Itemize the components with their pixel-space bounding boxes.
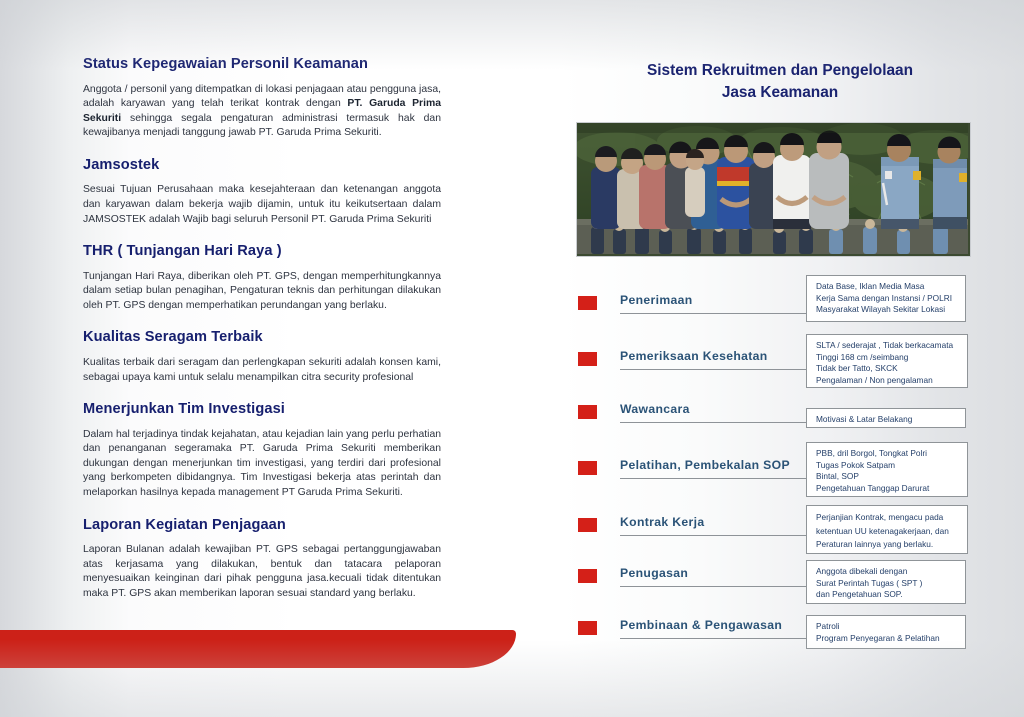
step-bullet-chip: [578, 569, 597, 583]
detail-line: ketentuan UU ketenagakerjaan, dan: [816, 525, 960, 539]
step-underline: [620, 313, 806, 314]
detail-line: PBB, dril Borgol, Tongkat Polri: [816, 448, 960, 460]
section-laporan-kegiatan: Laporan Kegiatan Penjagaan Laporan Bulan…: [83, 517, 441, 602]
section-heading: Laporan Kegiatan Penjagaan: [83, 517, 441, 535]
title-line-2: Jasa Keamanan: [560, 82, 1000, 104]
title-line-1: Sistem Rekruitmen dan Pengelolaan: [560, 60, 1000, 82]
step-underline: [620, 422, 806, 423]
detail-line: Anggota dibekali dengan: [816, 566, 958, 578]
detail-line: Patroli: [816, 621, 958, 633]
step-bullet-chip: [578, 296, 597, 310]
recruitment-briefing-photo: [576, 122, 971, 257]
step-label: Penugasan: [620, 566, 688, 580]
detail-line: SLTA / sederajat , Tidak berkacamata: [816, 340, 960, 352]
section-tim-investigasi: Menerjunkan Tim Investigasi Dalam hal te…: [83, 401, 441, 500]
section-body: Tunjangan Hari Raya, diberikan oleh PT. …: [83, 270, 441, 314]
step-detail-box: Data Base, Iklan Media Masa Kerja Sama d…: [806, 275, 966, 322]
section-jamsostek: Jamsostek Sesuai Tujuan Perusahaan maka …: [83, 157, 441, 227]
detail-line: Surat Perintah Tugas ( SPT ): [816, 578, 958, 590]
section-body: Sesuai Tujuan Perusahaan maka kesejahter…: [83, 183, 441, 227]
step-label: Pelatihan, Pembekalan SOP: [620, 458, 790, 472]
detail-line: Program Penyegaran & Pelatihan: [816, 633, 958, 645]
step-underline: [620, 586, 806, 587]
detail-line: Tinggi 168 cm /seimbang: [816, 352, 960, 364]
right-column-title: Sistem Rekruitmen dan Pengelolaan Jasa K…: [560, 60, 1000, 104]
step-bullet-chip: [578, 518, 597, 532]
detail-line: Tugas Pokok Satpam: [816, 460, 960, 472]
section-kualitas-seragam: Kualitas Seragam Terbaik Kualitas terbai…: [83, 329, 441, 385]
step-detail-box: Patroli Program Penyegaran & Pelatihan: [806, 615, 966, 649]
section-heading: THR ( Tunjangan Hari Raya ): [83, 243, 441, 261]
detail-line: Pengetahuan Tanggap Darurat: [816, 483, 960, 495]
step-bullet-chip: [578, 621, 597, 635]
step-label: Pemeriksaan Kesehatan: [620, 349, 768, 363]
section-heading: Kualitas Seragam Terbaik: [83, 329, 441, 347]
section-heading: Status Kepegawaian Personil Keamanan: [83, 56, 441, 74]
step-label: Penerimaan: [620, 293, 693, 307]
step-detail-box: SLTA / sederajat , Tidak berkacamata Tin…: [806, 334, 968, 388]
section-body: Anggota / personil yang ditempatkan di l…: [83, 83, 441, 141]
step-underline: [620, 638, 806, 639]
right-diagram-column: Sistem Rekruitmen dan Pengelolaan Jasa K…: [560, 0, 1024, 717]
step-underline: [620, 478, 806, 479]
step-bullet-chip: [578, 352, 597, 366]
step-underline: [620, 369, 806, 370]
brochure-page: Status Kepegawaian Personil Keamanan Ang…: [0, 0, 1024, 717]
detail-line: Tidak ber Tatto, SKCK: [816, 363, 960, 375]
body-post: sehingga segala pengaturan administrasi …: [83, 113, 441, 139]
detail-line: Kerja Sama dengan Instansi / POLRI: [816, 293, 958, 305]
left-text-column: Status Kepegawaian Personil Keamanan Ang…: [83, 56, 441, 617]
detail-line: Data Base, Iklan Media Masa: [816, 281, 958, 293]
step-label: Pembinaan & Pengawasan: [620, 618, 782, 632]
step-detail-box: Anggota dibekali dengan Surat Perintah T…: [806, 560, 966, 604]
section-body: Laporan Bulanan adalah kewajiban PT. GPS…: [83, 543, 441, 601]
section-heading: Menerjunkan Tim Investigasi: [83, 401, 441, 419]
step-label: Kontrak Kerja: [620, 515, 704, 529]
detail-line: Masyarakat Wilayah Sekitar Lokasi: [816, 304, 958, 316]
detail-line: Motivasi & Latar Belakang: [816, 414, 958, 426]
section-status-kepegawaian: Status Kepegawaian Personil Keamanan Ang…: [83, 56, 441, 141]
detail-line: dan Pengetahuan SOP.: [816, 589, 958, 601]
step-bullet-chip: [578, 405, 597, 419]
detail-line: Perjanjian Kontrak, mengacu pada: [816, 511, 960, 525]
step-detail-box: PBB, dril Borgol, Tongkat Polri Tugas Po…: [806, 442, 968, 497]
detail-line: Pengalaman / Non pengalaman: [816, 375, 960, 387]
section-heading: Jamsostek: [83, 157, 441, 175]
section-body: Kualitas terbaik dari seragam dan perlen…: [83, 356, 441, 385]
step-bullet-chip: [578, 461, 597, 475]
red-accent-banner: [0, 630, 516, 668]
step-label: Wawancara: [620, 402, 690, 416]
step-underline: [620, 535, 806, 536]
detail-line: Bintal, SOP: [816, 471, 960, 483]
detail-line: Peraturan lainnya yang berlaku.: [816, 538, 960, 552]
step-detail-box: Perjanjian Kontrak, mengacu pada ketentu…: [806, 505, 968, 554]
section-thr: THR ( Tunjangan Hari Raya ) Tunjangan Ha…: [83, 243, 441, 313]
step-detail-box: Motivasi & Latar Belakang: [806, 408, 966, 428]
section-body: Dalam hal terjadinya tindak kejahatan, a…: [83, 428, 441, 501]
